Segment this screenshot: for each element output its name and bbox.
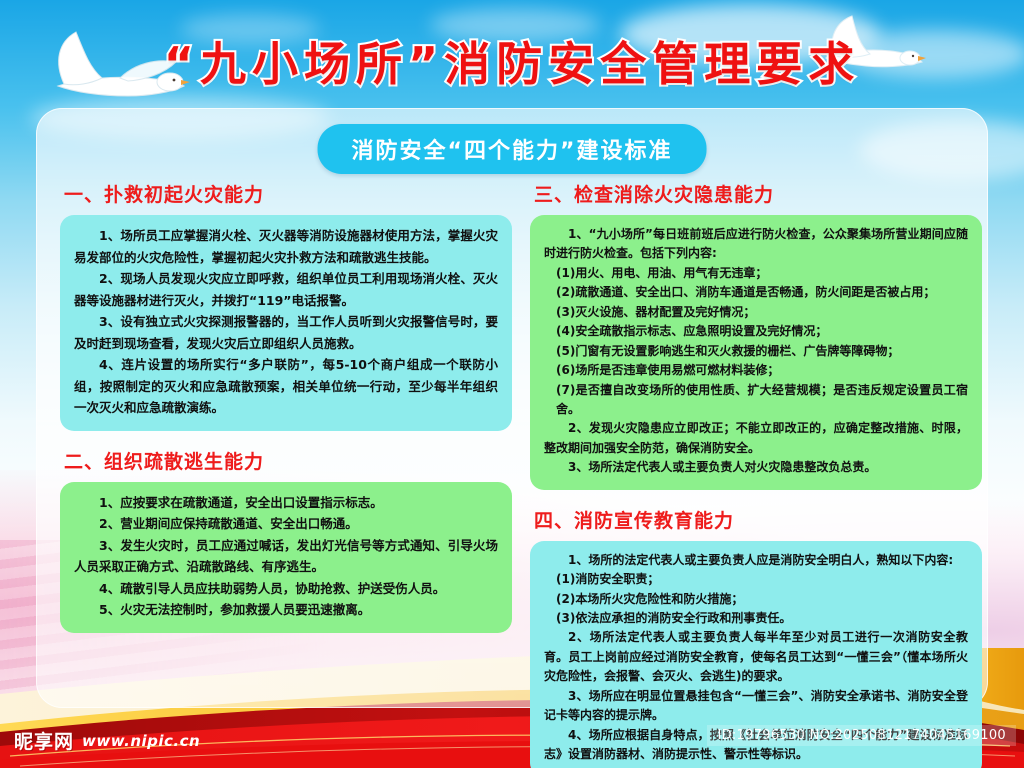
watermark-logo-text: 昵享网 bbox=[14, 727, 74, 754]
image-id-text: ID:19796530 NO:20250812174045169100 bbox=[707, 725, 1016, 746]
section-three-heading: 三、检查消除火灾隐患能力 bbox=[534, 180, 982, 207]
section-one-item-4: 4、连片设置的场所实行“多户联防”，每5-10个商户组成一个联防小组，按照制定的… bbox=[74, 354, 498, 419]
section-one-item-2: 2、现场人员发现火灾应立即呼救，组织单位员工利用现场消火栓、灭火器等设施器材进行… bbox=[74, 268, 498, 311]
section-one-item-1: 1、场所员工应掌握消火栓、灭火器等消防设施器材使用方法，掌握火灾易发部位的火灾危… bbox=[74, 225, 498, 268]
section-three-sub-7: (7)是否擅自改变场所的使用性质、扩大经营规模；是否违反规定设置员工宿舍。 bbox=[544, 381, 968, 420]
left-column: 一、扑救初起火灾能力 1、场所员工应掌握消火栓、灭火器等消防设施器材使用方法，掌… bbox=[60, 180, 512, 633]
section-three-item-2: 2、发现火灾隐患应立即改正；不能立即改正的，应确定整改措施、时限，整改期间加强安… bbox=[544, 419, 968, 458]
section-two-box: 1、应按要求在疏散通道，安全出口设置指示标志。 2、营业期间应保持疏散通道、安全… bbox=[60, 482, 512, 633]
section-three-sub-1: (1)用火、用电、用油、用气有无违章； bbox=[544, 264, 968, 283]
subtitle-badge: 消防安全“四个能力”建设标准 bbox=[318, 124, 707, 174]
section-three-sub-3: (3)灭火设施、器材配置及完好情况； bbox=[544, 303, 968, 322]
section-two-item-5: 5、火灾无法控制时，参加救援人员要迅速撤离。 bbox=[74, 599, 498, 621]
section-four-item-1: 1、场所的法定代表人或主要负责人应是消防安全明白人，熟知以下内容: bbox=[544, 551, 968, 570]
section-three-sub-4: (4)安全疏散指示标志、应急照明设置及完好情况； bbox=[544, 322, 968, 341]
section-one-box: 1、场所员工应掌握消火栓、灭火器等消防设施器材使用方法，掌握火灾易发部位的火灾危… bbox=[60, 215, 512, 431]
page-title: “九小场所”消防安全管理要求 bbox=[0, 28, 1024, 94]
section-two-item-4: 4、疏散引导人员应扶助弱势人员，协助抢救、护送受伤人员。 bbox=[74, 578, 498, 600]
section-one-heading: 一、扑救初起火灾能力 bbox=[64, 180, 512, 207]
right-column: 三、检查消除火灾隐患能力 1、“九小场所”每日班前班后应进行防火检查，公众聚集场… bbox=[530, 180, 982, 768]
section-three-sub-2: (2)疏散通道、安全出口、消防车通道是否畅通，防火间距是否被占用； bbox=[544, 283, 968, 302]
site-watermark: 昵享网 www.nipic.cn bbox=[14, 727, 200, 754]
section-four-item-3: 3、场所应在明显位置悬挂包含“一懂三会”、消防安全承诺书、消防安全登记卡等内容的… bbox=[544, 687, 968, 726]
section-four-item-2: 2、场所法定代表人或主要负责人每半年至少对员工进行一次消防安全教育。员工上岗前应… bbox=[544, 628, 968, 686]
poster-canvas: “九小场所”消防安全管理要求 消防安全“四个能力”建设标准 一、扑救初起火灾能力… bbox=[0, 0, 1024, 768]
section-three-sub-6: (6)场所是否违章使用易燃可燃材料装修； bbox=[544, 361, 968, 380]
section-three-sub-5: (5)门窗有无设置影响逃生和灭火救援的栅栏、广告牌等障碍物； bbox=[544, 342, 968, 361]
section-two-item-1: 1、应按要求在疏散通道，安全出口设置指示标志。 bbox=[74, 492, 498, 514]
section-three-box: 1、“九小场所”每日班前班后应进行防火检查，公众聚集场所营业期间应随时进行防火检… bbox=[530, 215, 982, 490]
section-four-sub-3: (3)依法应承担的消防安全行政和刑事责任。 bbox=[544, 609, 968, 628]
section-one-item-3: 3、设有独立式火灾探测报警器的，当工作人员听到火灾报警信号时，要及时赶到现场查看… bbox=[74, 311, 498, 354]
section-two-item-3: 3、发生火灾时，员工应通过喊话，发出灯光信号等方式通知、引导火场人员采取正确方式… bbox=[74, 535, 498, 578]
section-three-item-1: 1、“九小场所”每日班前班后应进行防火检查，公众聚集场所营业期间应随时进行防火检… bbox=[544, 225, 968, 264]
section-four-heading: 四、消防宣传教育能力 bbox=[534, 506, 982, 533]
section-two-item-2: 2、营业期间应保持疏散通道、安全出口畅通。 bbox=[74, 513, 498, 535]
watermark-url: www.nipic.cn bbox=[82, 732, 200, 750]
section-two-heading: 二、组织疏散逃生能力 bbox=[64, 447, 512, 474]
section-four-sub-1: (1)消防安全职责； bbox=[544, 570, 968, 589]
section-three-item-3: 3、场所法定代表人或主要负责人对火灾隐患整改负总责。 bbox=[544, 458, 968, 477]
section-four-sub-2: (2)本场所火灾危险性和防火措施； bbox=[544, 590, 968, 609]
